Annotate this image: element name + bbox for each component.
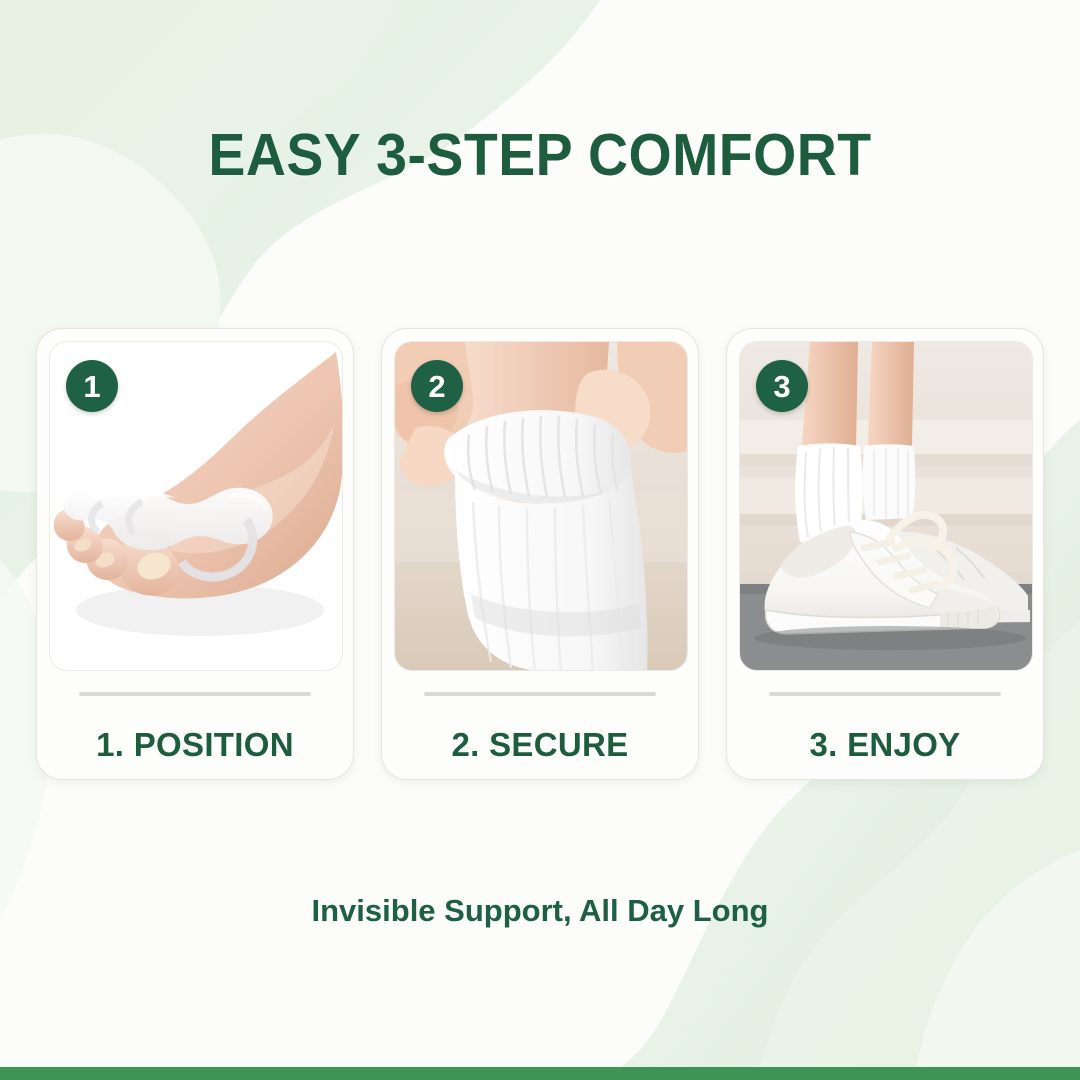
step-card-enjoy[interactable]: 3 3. ENJOY xyxy=(726,328,1044,780)
wave-bottom-right-front xyxy=(915,850,1080,1080)
card-divider xyxy=(769,692,1001,696)
step-badge-2: 2 xyxy=(411,360,463,412)
step-photo-enjoy: 3 xyxy=(739,341,1033,671)
step-photo-position: 1 xyxy=(49,341,343,671)
step-photo-secure: 2 xyxy=(394,341,688,671)
step-badge-3: 3 xyxy=(756,360,808,412)
card-divider xyxy=(79,692,311,696)
step-caption-position: 1. POSITION xyxy=(49,726,341,764)
page-title: EASY 3-STEP COMFORT xyxy=(32,126,1047,185)
step-caption-secure: 2. SECURE xyxy=(394,726,686,764)
bottom-accent-bar xyxy=(0,1067,1080,1080)
steps-row: 1 1. POSITION xyxy=(36,328,1044,780)
card-divider xyxy=(424,692,656,696)
step-badge-1: 1 xyxy=(66,360,118,412)
step-caption-enjoy: 3. ENJOY xyxy=(739,726,1031,764)
tagline: Invisible Support, All Day Long xyxy=(0,893,1080,929)
step-card-position[interactable]: 1 1. POSITION xyxy=(36,328,354,780)
poster-canvas: EASY 3-STEP COMFORT xyxy=(0,0,1080,1080)
step-card-secure[interactable]: 2 2. SECURE xyxy=(381,328,699,780)
